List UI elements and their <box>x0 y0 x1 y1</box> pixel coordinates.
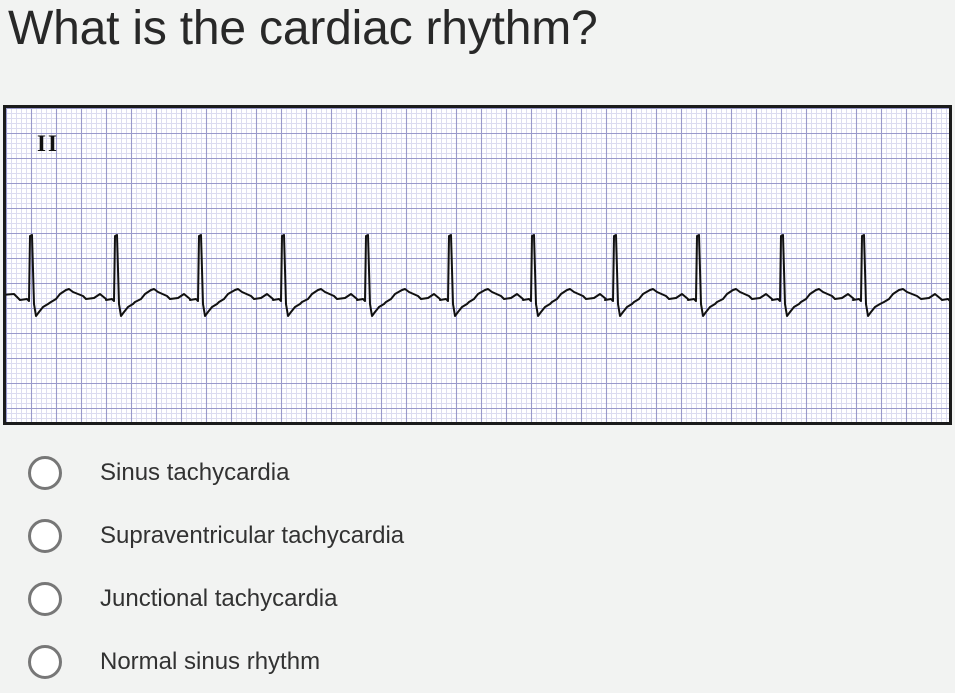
ecg-waveform-trace <box>6 108 949 422</box>
option-row[interactable]: Normal sinus rhythm <box>0 630 955 693</box>
page-title: What is the cardiac rhythm? <box>8 0 598 60</box>
answer-options: Sinus tachycardia Supraventricular tachy… <box>0 441 955 693</box>
ecg-lead-label: II <box>37 132 59 155</box>
option-row[interactable]: Supraventricular tachycardia <box>0 504 955 567</box>
radio-button-icon[interactable] <box>28 519 62 553</box>
option-row[interactable]: Sinus tachycardia <box>0 441 955 504</box>
radio-button-icon[interactable] <box>28 456 62 490</box>
option-label: Sinus tachycardia <box>100 459 289 487</box>
option-row[interactable]: Junctional tachycardia <box>0 567 955 630</box>
radio-button-icon[interactable] <box>28 582 62 616</box>
ecg-strip: II <box>3 105 952 425</box>
option-label: Junctional tachycardia <box>100 585 337 613</box>
radio-button-icon[interactable] <box>28 645 62 679</box>
option-label: Normal sinus rhythm <box>100 648 320 676</box>
option-label: Supraventricular tachycardia <box>100 522 404 550</box>
